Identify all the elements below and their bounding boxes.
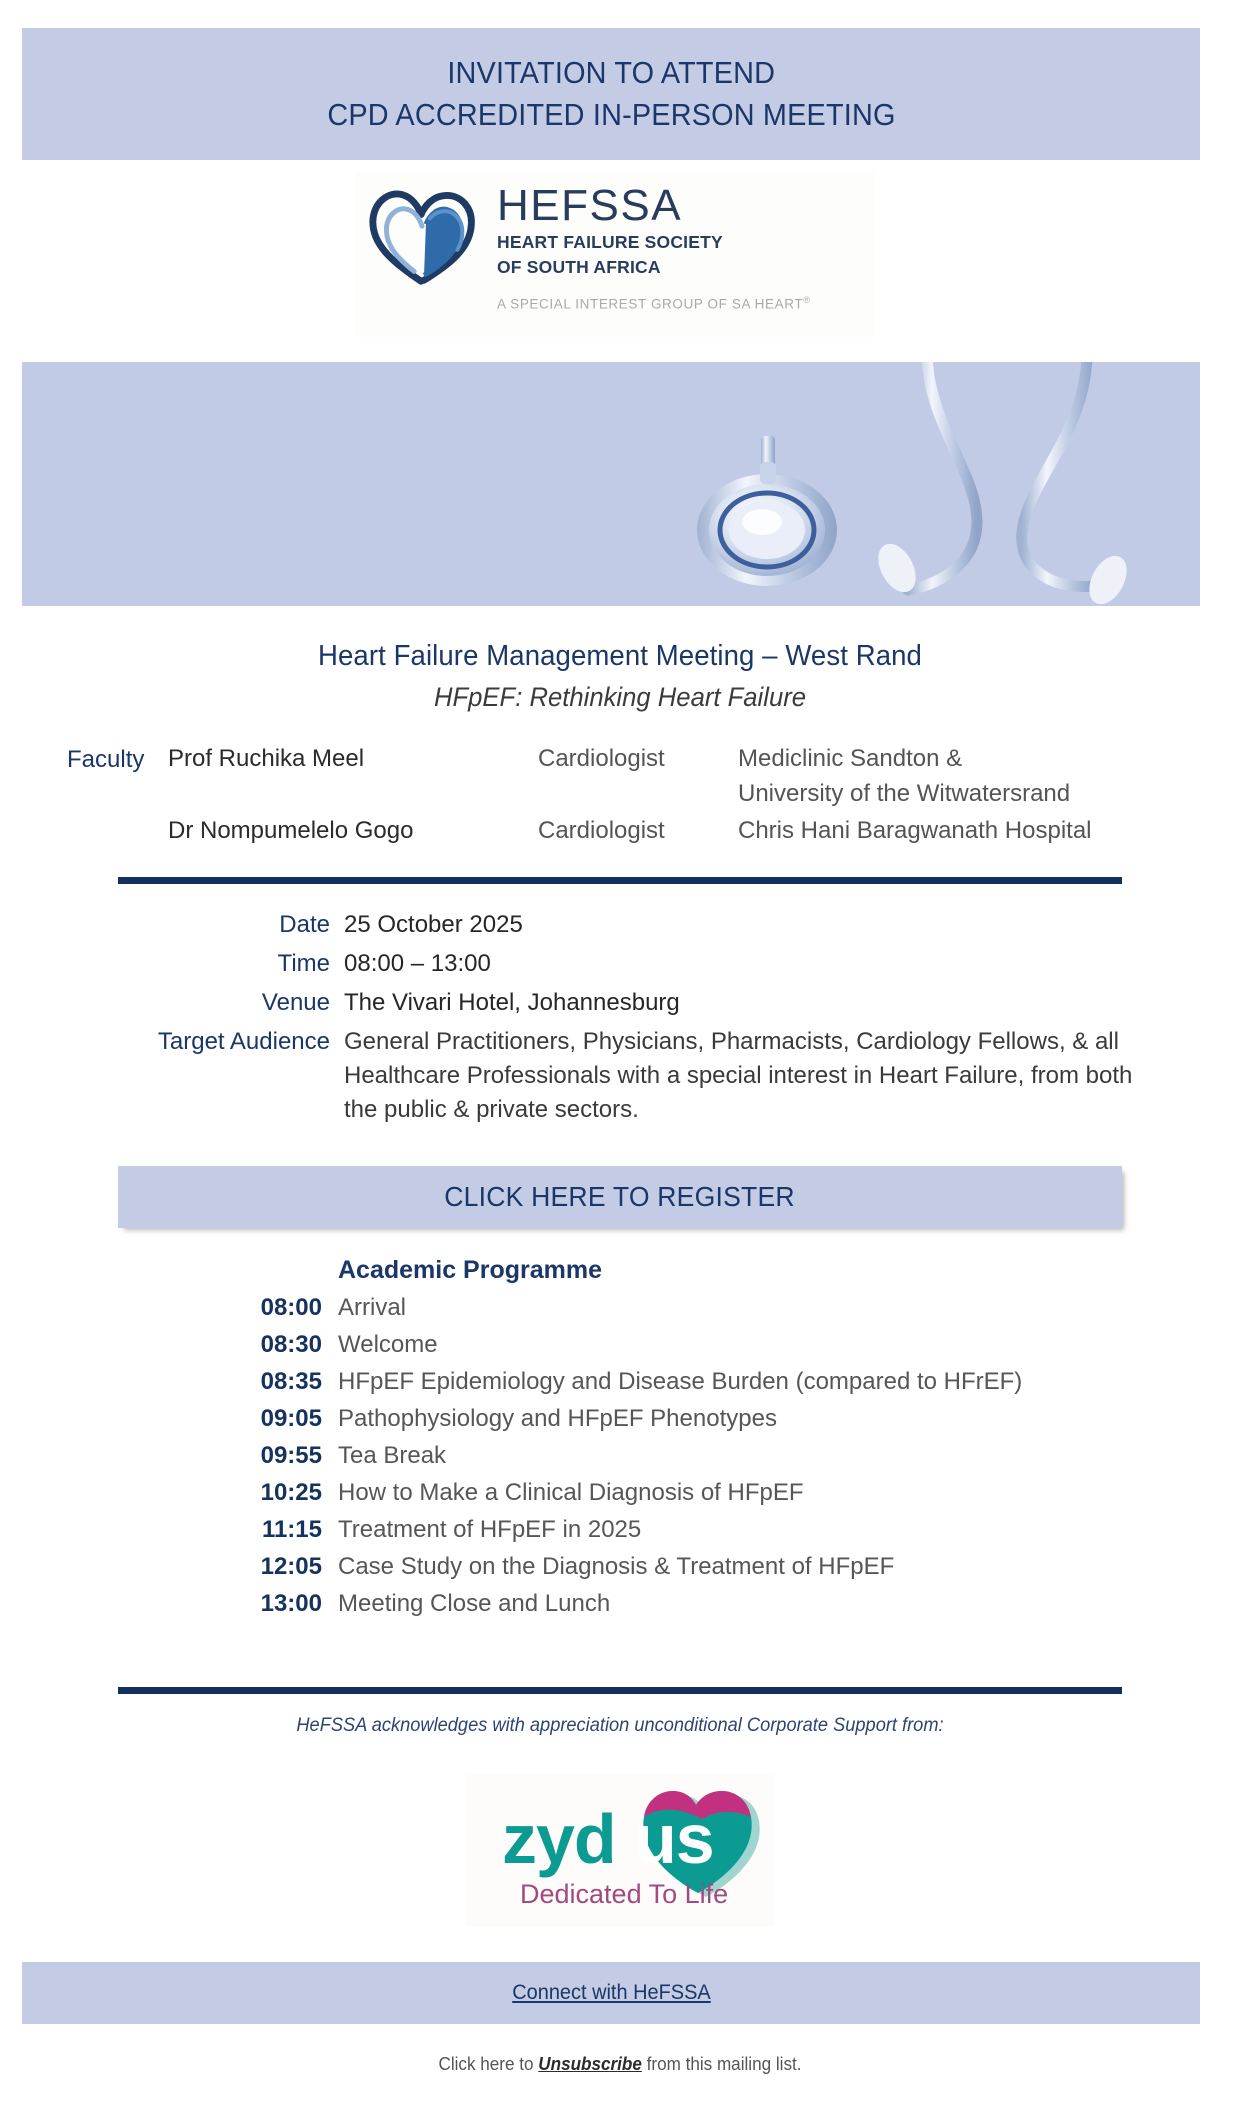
detail-row-venue: Venue The Vivari Hotel, Johannesburg [0, 986, 1240, 1020]
divider-bottom [118, 1687, 1122, 1694]
programme-item: 08:30 Welcome [0, 1331, 1240, 1359]
register-button-label: CLICK HERE TO REGISTER [445, 1181, 796, 1213]
faculty-role: Cardiologist [538, 814, 738, 849]
faculty-affiliation: Mediclinic Sandton & University of the W… [738, 742, 1070, 812]
programme-description: Treatment of HFpEF in 2025 [338, 1516, 641, 1544]
programme-description: Pathophysiology and HFpEF Phenotypes [338, 1405, 777, 1433]
programme-item: 12:05 Case Study on the Diagnosis & Trea… [0, 1553, 1240, 1581]
detail-row-date: Date 25 October 2025 [0, 908, 1240, 942]
svg-text:us: us [634, 1800, 714, 1878]
hefssa-logo-tagline: A SPECIAL INTEREST GROUP OF SA HEART® [497, 295, 810, 312]
detail-row-target-audience: Target Audience General Practitioners, P… [0, 1025, 1240, 1127]
detail-label: Venue [0, 986, 330, 1020]
detail-label: Date [0, 908, 330, 942]
hefssa-logo: HEFSSA HEART FAILURE SOCIETY OF SOUTH AF… [355, 172, 875, 337]
unsubscribe-line: Click here to Unsubscribe from this mail… [31, 2054, 1209, 2075]
zydus-logo: zyd us Dedicated To Life [466, 1775, 774, 1927]
faculty-name: Dr Nompumelelo Gogo [168, 814, 538, 849]
unsubscribe-link[interactable]: Unsubscribe [538, 2054, 642, 2074]
programme-heading: Academic Programme [338, 1256, 1240, 1285]
footer-banner: Connect with HeFSSA [22, 1962, 1200, 2024]
stethoscope-icon [22, 362, 1200, 606]
programme-item: 08:00 Arrival [0, 1294, 1240, 1322]
faculty-affiliation: Chris Hani Baragwanath Hospital [738, 814, 1092, 849]
programme-time: 08:35 [0, 1368, 322, 1396]
hefssa-logo-subtitle-1: HEART FAILURE SOCIETY [497, 233, 810, 253]
academic-programme: Academic Programme 08:00 Arrival 08:30 W… [0, 1256, 1240, 1627]
programme-description: Arrival [338, 1294, 406, 1322]
hefssa-logo-text: HEFSSA HEART FAILURE SOCIETY OF SOUTH AF… [497, 184, 810, 311]
programme-item: 08:35 HFpEF Epidemiology and Disease Bur… [0, 1368, 1240, 1396]
programme-description: Welcome [338, 1331, 438, 1359]
stethoscope-hero-image [22, 362, 1200, 606]
programme-item: 09:05 Pathophysiology and HFpEF Phenotyp… [0, 1405, 1240, 1433]
hefssa-heart-logo-icon [365, 180, 483, 292]
header-title-line-1: INVITATION TO ATTEND [447, 53, 775, 93]
hefssa-logo-subtitle-2: OF SOUTH AFRICA [497, 258, 810, 278]
programme-time: 10:25 [0, 1479, 322, 1507]
detail-value: General Practitioners, Physicians, Pharm… [344, 1025, 1134, 1127]
programme-item: 10:25 How to Make a Clinical Diagnosis o… [0, 1479, 1240, 1507]
programme-time: 12:05 [0, 1553, 322, 1581]
meeting-title: Heart Failure Management Meeting – West … [31, 640, 1209, 673]
faculty-role: Cardiologist [538, 742, 738, 777]
meeting-subtitle: HFpEF: Rethinking Heart Failure [31, 682, 1209, 713]
programme-time: 08:00 [0, 1294, 322, 1322]
programme-item: 13:00 Meeting Close and Lunch [0, 1590, 1240, 1618]
register-button[interactable]: CLICK HERE TO REGISTER [118, 1166, 1122, 1228]
divider-top [118, 877, 1122, 884]
programme-item: 09:55 Tea Break [0, 1442, 1240, 1470]
programme-description: How to Make a Clinical Diagnosis of HFpE… [338, 1479, 804, 1507]
faculty-row: Prof Ruchika Meel Cardiologist Mediclini… [168, 742, 1178, 812]
programme-time: 09:05 [0, 1405, 322, 1433]
svg-text:zyd: zyd [502, 1800, 616, 1878]
hefssa-logo-tagline-text: A SPECIAL INTEREST GROUP OF SA HEART [497, 296, 803, 311]
programme-item: 11:15 Treatment of HFpEF in 2025 [0, 1516, 1240, 1544]
connect-with-hefssa-link[interactable]: Connect with HeFSSA [512, 1981, 710, 2005]
detail-value: 08:00 – 13:00 [344, 947, 1134, 981]
programme-description: Case Study on the Diagnosis & Treatment … [338, 1553, 894, 1581]
programme-time: 08:30 [0, 1331, 322, 1359]
header-title-line-2: CPD ACCREDITED IN-PERSON MEETING [327, 95, 895, 135]
programme-description: Meeting Close and Lunch [338, 1590, 610, 1618]
email-invitation-page: INVITATION TO ATTEND CPD ACCREDITED IN-P… [0, 0, 1240, 2126]
detail-label: Time [0, 947, 330, 981]
unsubscribe-suffix: from this mailing list. [647, 2054, 802, 2074]
svg-text:Dedicated To Life: Dedicated To Life [520, 1879, 728, 1909]
programme-description: HFpEF Epidemiology and Disease Burden (c… [338, 1368, 1022, 1396]
sponsor-acknowledgement: HeFSSA acknowledges with appreciation un… [25, 1715, 1215, 1737]
detail-row-time: Time 08:00 – 13:00 [0, 947, 1240, 981]
hefssa-logo-name: HEFSSA [497, 184, 810, 228]
programme-description: Tea Break [338, 1442, 446, 1470]
event-details: Date 25 October 2025 Time 08:00 – 13:00 … [0, 908, 1240, 1132]
registered-mark: ® [803, 295, 810, 305]
detail-value: 25 October 2025 [344, 908, 1134, 942]
programme-time: 11:15 [0, 1516, 322, 1544]
detail-label: Target Audience [0, 1025, 330, 1059]
programme-time: 09:55 [0, 1442, 322, 1470]
faculty-list: Prof Ruchika Meel Cardiologist Mediclini… [168, 742, 1178, 848]
detail-value: The Vivari Hotel, Johannesburg [344, 986, 1134, 1020]
unsubscribe-prefix: Click here to [438, 2054, 533, 2074]
zydus-logo-icon: zyd us Dedicated To Life [466, 1775, 774, 1927]
faculty-row: Dr Nompumelelo Gogo Cardiologist Chris H… [168, 814, 1178, 849]
header-banner: INVITATION TO ATTEND CPD ACCREDITED IN-P… [22, 28, 1200, 160]
faculty-name: Prof Ruchika Meel [168, 742, 538, 777]
faculty-label: Faculty [67, 746, 144, 774]
programme-time: 13:00 [0, 1590, 322, 1618]
